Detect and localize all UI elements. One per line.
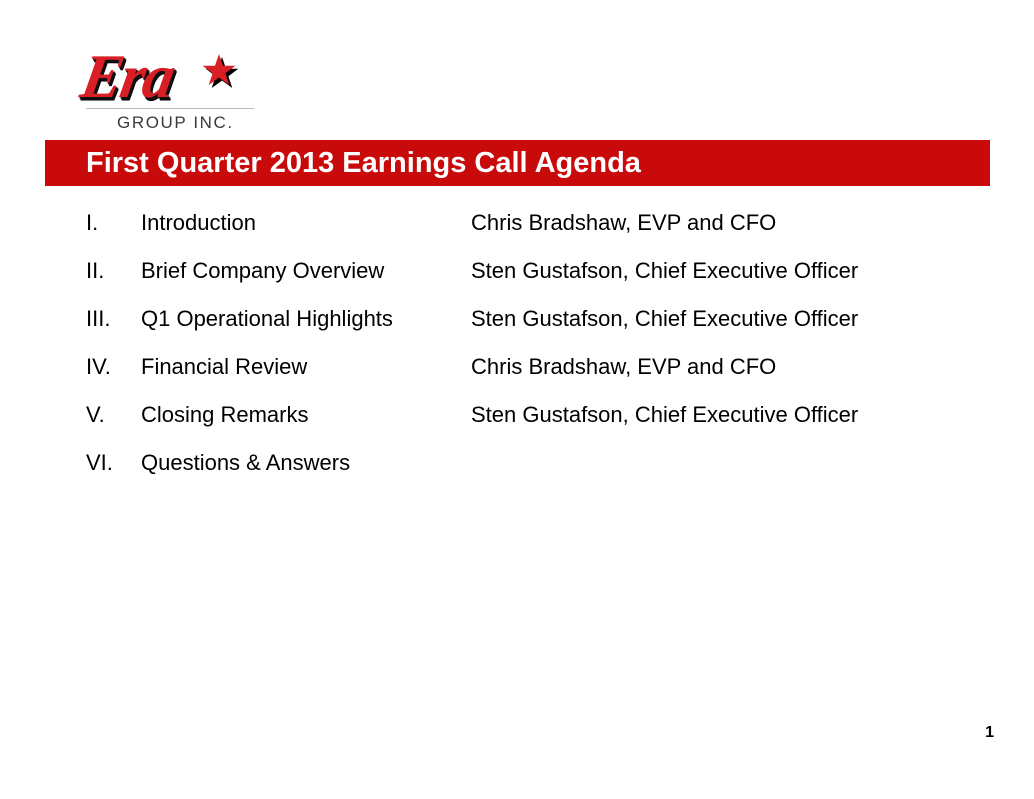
page-title: First Quarter 2013 Earnings Call Agenda [86,147,641,180]
agenda-item-numeral: II. [86,258,141,284]
agenda-item-numeral: III. [86,306,141,332]
agenda-item-topic: Introduction [141,210,256,236]
agenda-row: V.Closing RemarksSten Gustafson, Chief E… [86,402,966,450]
agenda-row: II.Brief Company OverviewSten Gustafson,… [86,258,966,306]
agenda-item-speaker: Sten Gustafson, Chief Executive Officer [471,258,858,284]
agenda-list: I.IntroductionChris Bradshaw, EVP and CF… [86,210,966,498]
agenda-item-topic: Brief Company Overview [141,258,384,284]
agenda-item-numeral: I. [86,210,141,236]
agenda-item-speaker: Sten Gustafson, Chief Executive Officer [471,402,858,428]
agenda-item-topic: Q1 Operational Highlights [141,306,393,332]
agenda-item-speaker: Sten Gustafson, Chief Executive Officer [471,306,858,332]
agenda-item-topic: Financial Review [141,354,307,380]
agenda-row: VI.Questions & Answers [86,450,966,498]
agenda-item-topic: Questions & Answers [141,450,350,476]
slide-title-bar: First Quarter 2013 Earnings Call Agenda [45,140,990,186]
logo-subtitle: GROUP INC. [117,113,234,133]
era-group-logo: Era GROUP INC. [82,46,257,136]
agenda-item-speaker: Chris Bradshaw, EVP and CFO [471,354,776,380]
agenda-item-speaker: Chris Bradshaw, EVP and CFO [471,210,776,236]
presentation-slide: Era GROUP INC. First Quarter 2013 Earnin… [0,0,1034,799]
agenda-row: I.IntroductionChris Bradshaw, EVP and CF… [86,210,966,258]
agenda-item-numeral: V. [86,402,141,428]
page-number: 1 [985,724,994,742]
star-icon [202,54,236,88]
agenda-row: III.Q1 Operational HighlightsSten Gustaf… [86,306,966,354]
logo-divider [86,108,254,109]
agenda-item-numeral: IV. [86,354,141,380]
agenda-item-topic: Closing Remarks [141,402,309,428]
agenda-item-numeral: VI. [86,450,141,476]
agenda-row: IV.Financial ReviewChris Bradshaw, EVP a… [86,354,966,402]
